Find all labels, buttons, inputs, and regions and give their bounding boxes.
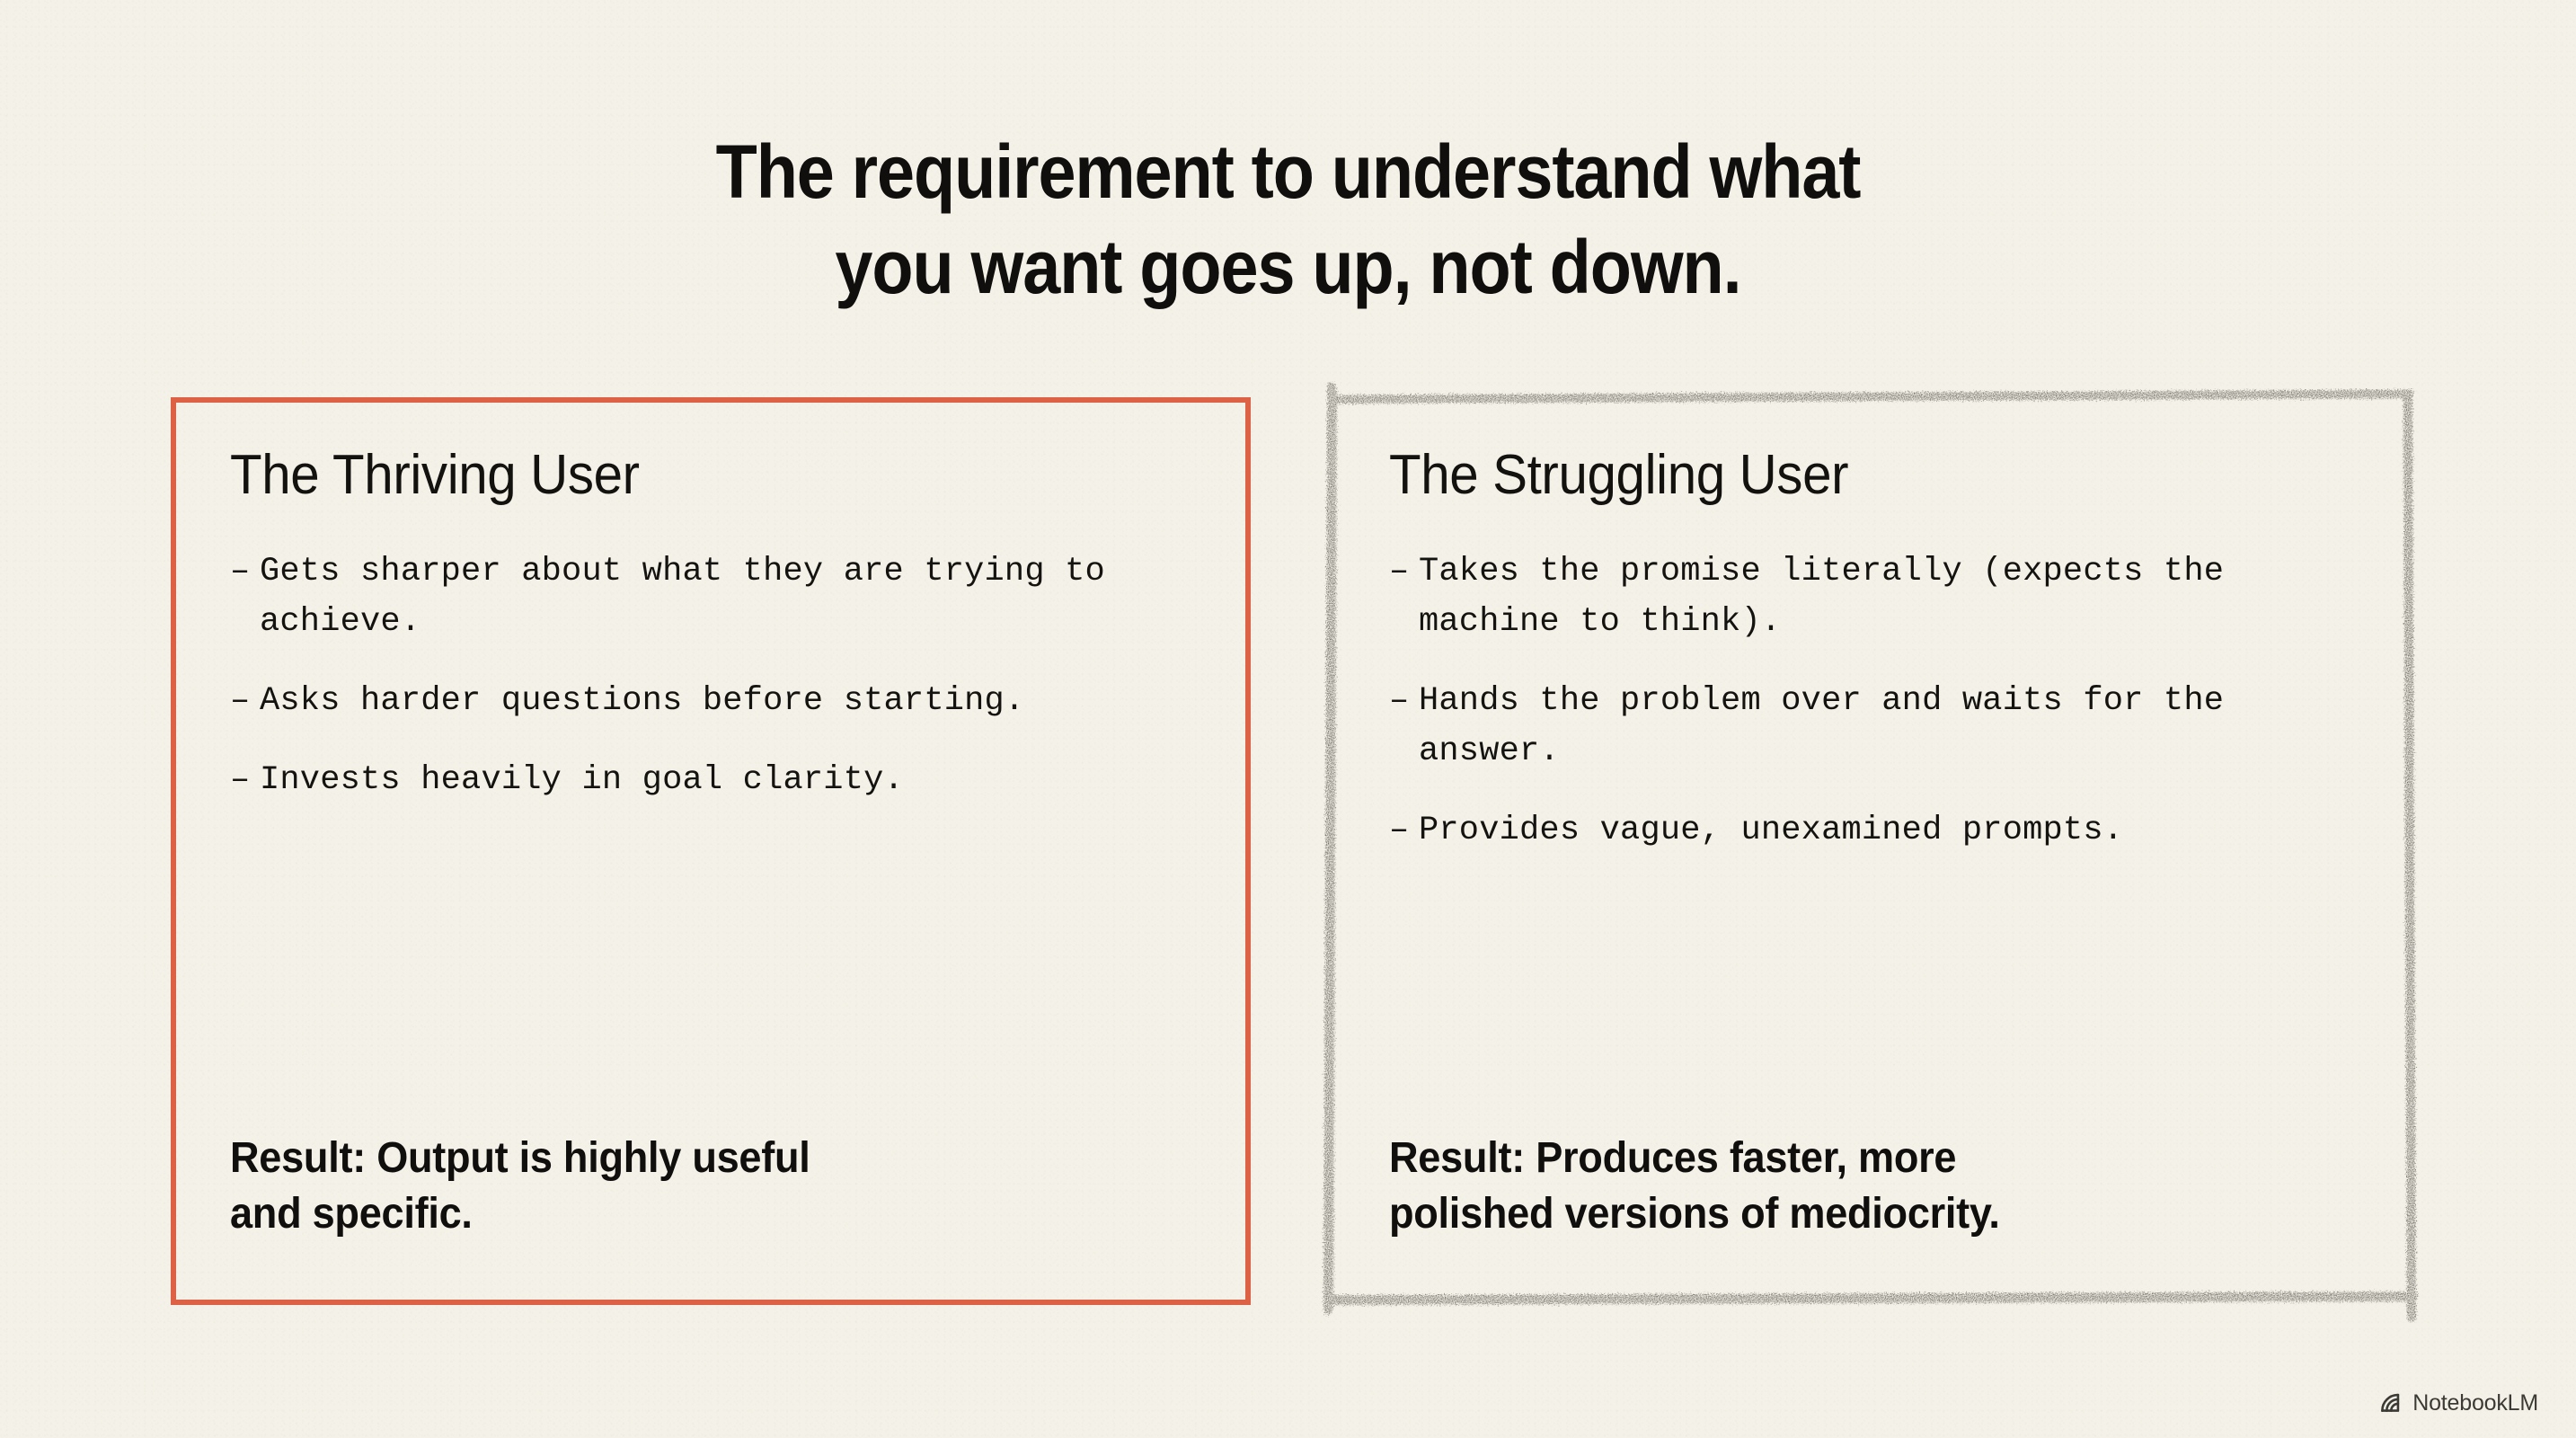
card-result-struggling: Result: Produces faster, more polished v…: [1389, 1131, 2293, 1242]
bullet-list-struggling: – Takes the promise literally (expects t…: [1389, 546, 2354, 856]
card-heading-struggling: The Struggling User: [1389, 444, 2297, 507]
notebooklm-watermark: NotebookLM: [2379, 1390, 2538, 1416]
list-item: – Invests heavily in goal clarity.: [230, 755, 1197, 805]
bullet-list-thriving: – Gets sharper about what they are tryin…: [230, 546, 1197, 805]
bullet-text: Gets sharper about what they are trying …: [260, 546, 1197, 647]
bullet-dash-icon: –: [1389, 805, 1419, 856]
bullet-text: Invests heavily in goal clarity.: [260, 755, 1197, 805]
watermark-label: NotebookLM: [2412, 1390, 2538, 1416]
notebooklm-spiral-icon: [2379, 1391, 2403, 1416]
page-title: The requirement to understand what you w…: [128, 124, 2447, 315]
bullet-dash-icon: –: [230, 755, 260, 805]
list-item: – Takes the promise literally (expects t…: [1389, 546, 2354, 647]
bullet-text: Asks harder questions before starting.: [260, 676, 1197, 726]
card-thriving-user: The Thriving User – Gets sharper about w…: [171, 397, 1251, 1305]
bullet-dash-icon: –: [230, 546, 260, 647]
list-item: – Asks harder questions before starting.: [230, 676, 1197, 726]
bullet-text: Provides vague, unexamined prompts.: [1419, 805, 2354, 856]
bullet-dash-icon: –: [1389, 676, 1419, 777]
card-result-thriving: Result: Output is highly useful and spec…: [230, 1131, 1136, 1242]
list-item: – Gets sharper about what they are tryin…: [230, 546, 1197, 647]
card-heading-thriving: The Thriving User: [230, 444, 1138, 507]
card-struggling-user: The Struggling User – Takes the promise …: [1330, 397, 2408, 1305]
slide-canvas: The requirement to understand what you w…: [0, 0, 2576, 1438]
list-item: – Hands the problem over and waits for t…: [1389, 676, 2354, 777]
bullet-dash-icon: –: [230, 676, 260, 726]
list-item: – Provides vague, unexamined prompts.: [1389, 805, 2354, 856]
bullet-text: Hands the problem over and waits for the…: [1419, 676, 2354, 777]
bullet-text: Takes the promise literally (expects the…: [1419, 546, 2354, 647]
bullet-dash-icon: –: [1389, 546, 1419, 647]
